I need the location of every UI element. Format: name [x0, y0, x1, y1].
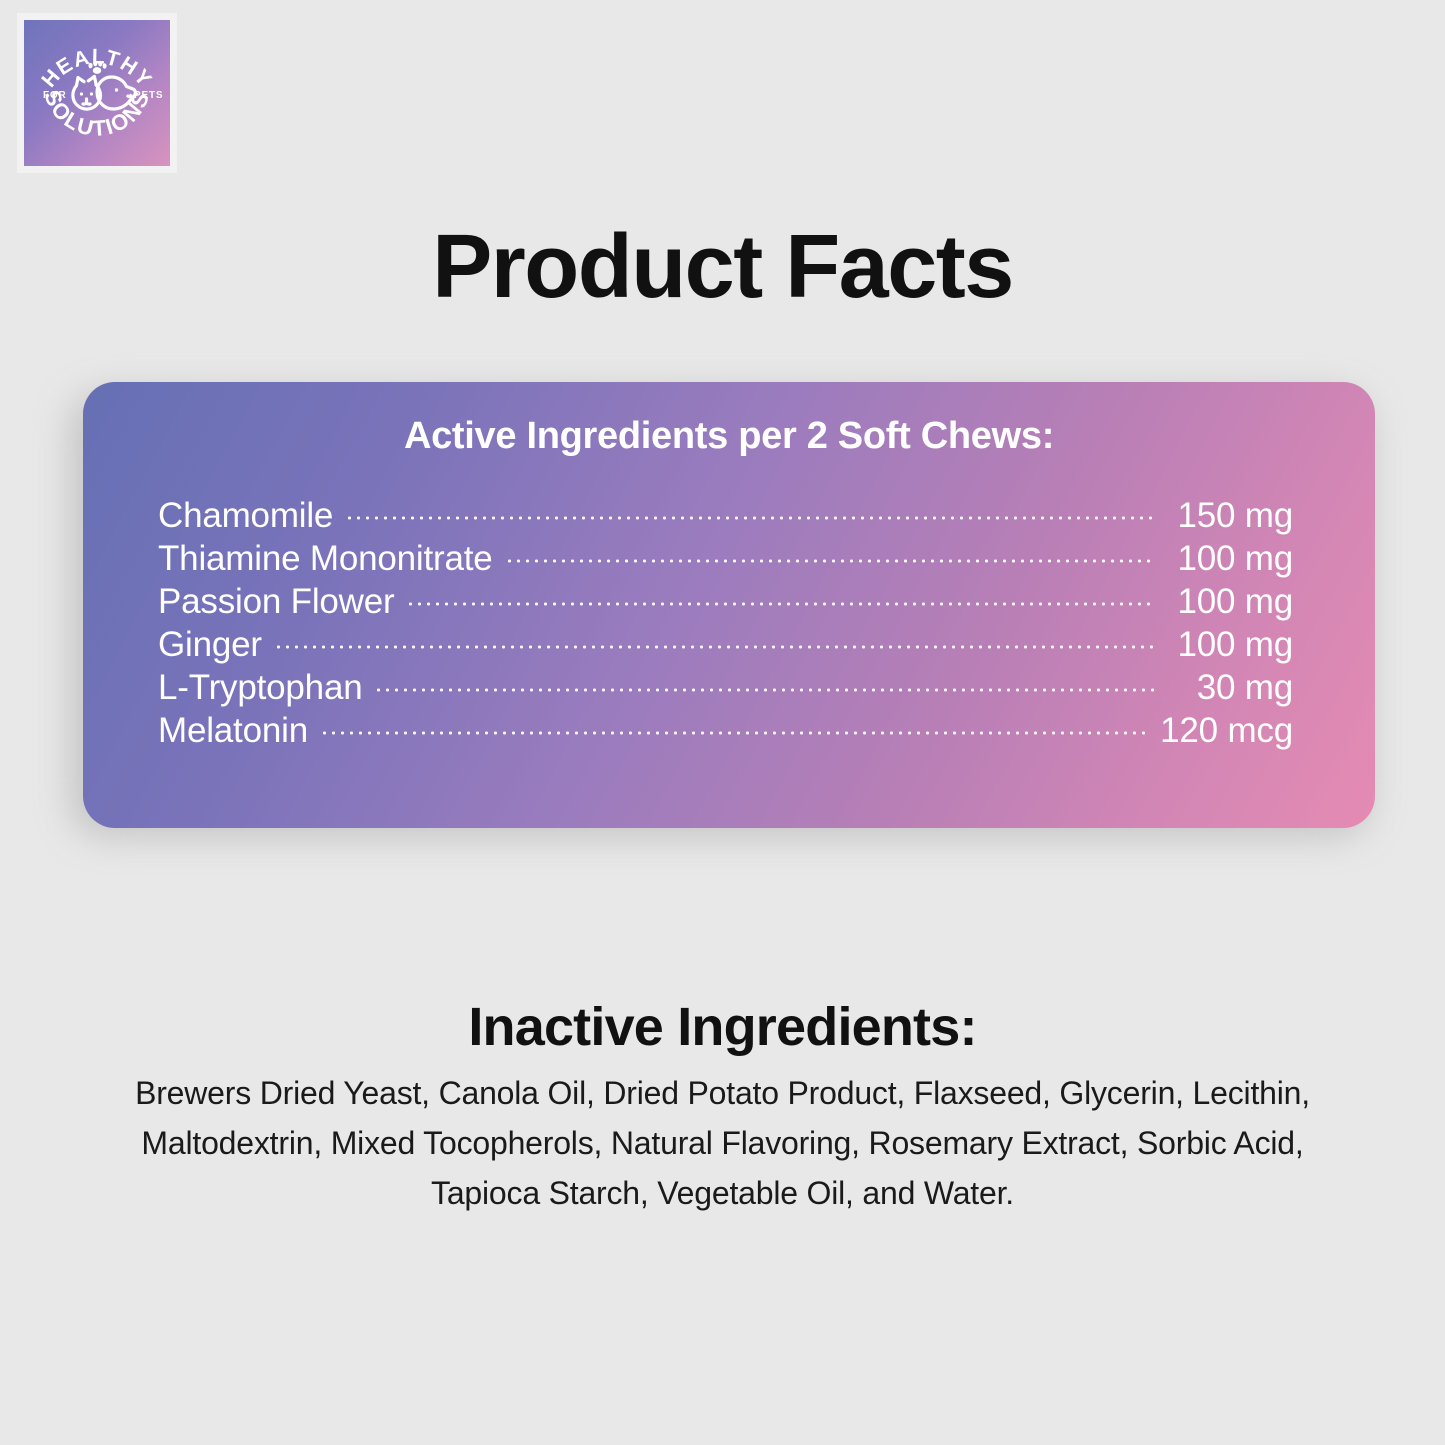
ingredient-row: Ginger 100 mg: [158, 625, 1293, 668]
leader-dots: [374, 687, 1155, 693]
leader-dots: [320, 730, 1150, 736]
ingredient-name: Chamomile: [158, 496, 333, 536]
active-ingredients-panel: Active Ingredients per 2 Soft Chews: Cha…: [83, 382, 1375, 828]
svg-text:FOR: FOR: [43, 90, 67, 101]
ingredient-name: Ginger: [158, 625, 262, 665]
inactive-ingredients-heading: Inactive Ingredients:: [0, 1000, 1445, 1054]
ingredient-amount: 150 mg: [1165, 496, 1293, 536]
brand-logo-gradient: HEALTHY SOLUTIONS FOR PETS: [24, 20, 170, 166]
leader-dots: [406, 601, 1155, 607]
svg-text:PETS: PETS: [134, 90, 163, 101]
leader-dots: [274, 644, 1155, 650]
leader-dots: [345, 515, 1155, 521]
ingredient-row: Thiamine Mononitrate 100 mg: [158, 539, 1293, 582]
ingredient-name: Thiamine Mononitrate: [158, 539, 493, 579]
leader-dots: [505, 558, 1156, 564]
active-ingredients-heading: Active Ingredients per 2 Soft Chews:: [83, 415, 1375, 458]
active-ingredients-list: Chamomile 150 mg Thiamine Mononitrate 10…: [158, 496, 1293, 754]
ingredient-row: Melatonin 120 mcg: [158, 711, 1293, 754]
ingredient-row: Chamomile 150 mg: [158, 496, 1293, 539]
ingredient-row: Passion Flower 100 mg: [158, 582, 1293, 625]
ingredient-amount: 100 mg: [1165, 582, 1293, 622]
ingredient-amount: 120 mcg: [1160, 711, 1293, 751]
ingredient-amount: 30 mg: [1165, 668, 1293, 708]
ingredient-amount: 100 mg: [1165, 625, 1293, 665]
brand-logo: HEALTHY SOLUTIONS FOR PETS: [17, 13, 177, 173]
ingredient-amount: 100 mg: [1165, 539, 1293, 579]
brand-logo-artwork: HEALTHY SOLUTIONS FOR PETS: [24, 20, 170, 166]
ingredient-name: L-Tryptophan: [158, 668, 362, 708]
ingredient-row: L-Tryptophan 30 mg: [158, 668, 1293, 711]
inactive-ingredients-text: Brewers Dried Yeast, Canola Oil, Dried P…: [85, 1068, 1360, 1218]
ingredient-name: Melatonin: [158, 711, 308, 751]
page-title: Product Facts: [0, 222, 1445, 312]
ingredient-name: Passion Flower: [158, 582, 394, 622]
